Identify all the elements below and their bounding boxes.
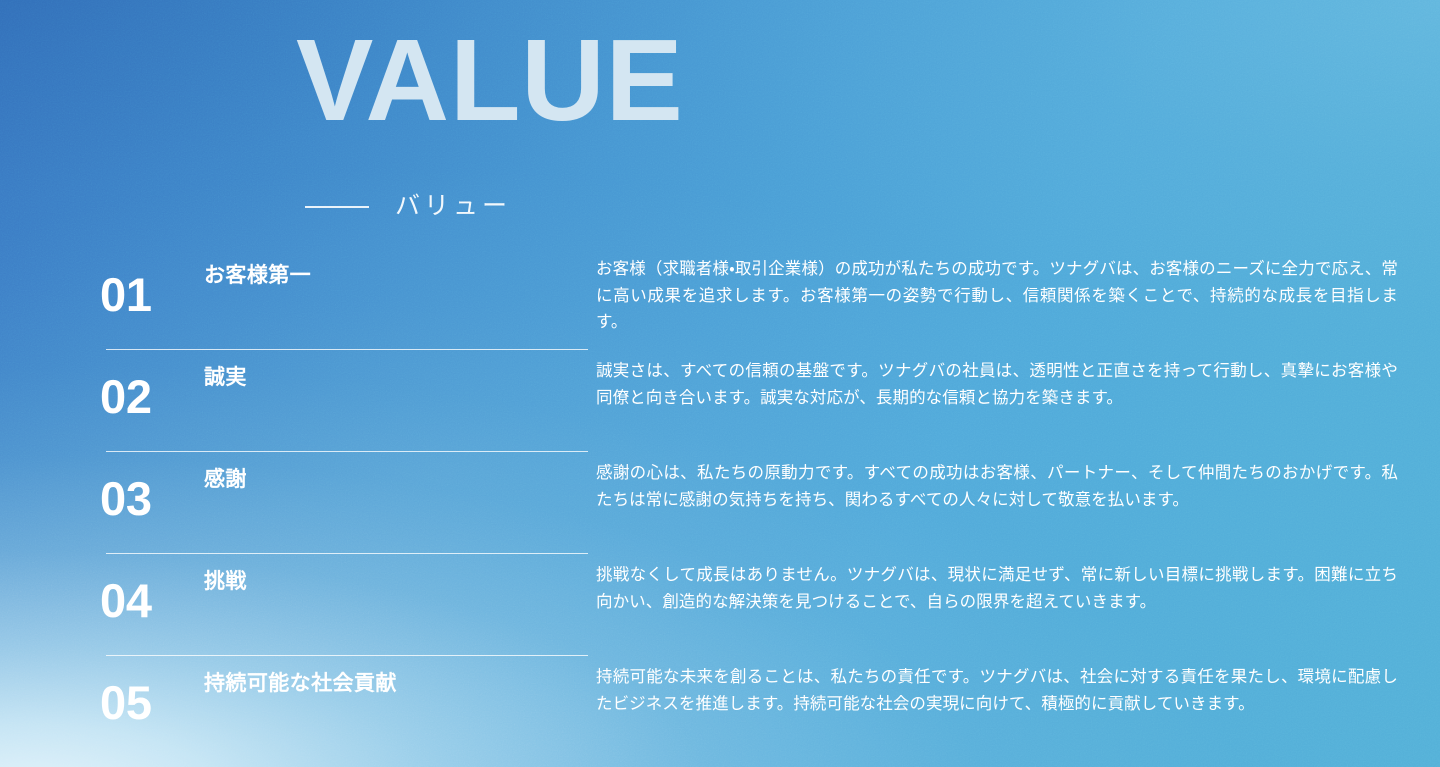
value-number: 03 xyxy=(100,452,204,522)
section-subtitle: バリュー xyxy=(395,194,511,219)
value-label-group: 05 持続可能な社会貢献 xyxy=(0,656,596,726)
value-number: 02 xyxy=(100,350,204,420)
value-label-group: 03 感謝 xyxy=(0,452,596,522)
list-item: 04 挑戦 挑戦なくして成長はありません。ツナグバは、現状に満足せず、常に新しい… xyxy=(0,554,1440,656)
value-title: 持続可能な社会貢献 xyxy=(204,656,397,694)
value-number: 05 xyxy=(100,656,204,726)
value-description: 誠実さは、すべての信頼の基盤です。ツナグバの社員は、透明性と正直さを持って行動し… xyxy=(596,350,1440,411)
list-item: 05 持続可能な社会貢献 持続可能な未来を創ることは、私たちの責任です。ツナグバ… xyxy=(0,656,1440,758)
list-item: 03 感謝 感謝の心は、私たちの原動力です。すべての成功はお客様、パートナー、そ… xyxy=(0,452,1440,554)
value-description: お客様（求職者様・取引企業様）の成功が私たちの成功です。ツナグバは、お客様のニー… xyxy=(596,248,1440,336)
value-title: 感謝 xyxy=(204,452,247,490)
value-number: 01 xyxy=(100,248,204,318)
value-list: 01 お客様第一 お客様（求職者様・取引企業様）の成功が私たちの成功です。ツナグ… xyxy=(0,248,1440,758)
value-number: 04 xyxy=(100,554,204,624)
value-title: 挑戦 xyxy=(204,554,247,592)
value-description: 挑戦なくして成長はありません。ツナグバは、現状に満足せず、常に新しい目標に挑戦し… xyxy=(596,554,1440,615)
subtitle-group: バリュー xyxy=(305,194,511,219)
horizontal-rule-icon xyxy=(305,206,369,208)
page-title: VALUE xyxy=(296,22,683,138)
value-label-group: 01 お客様第一 xyxy=(0,248,596,318)
value-label-group: 02 誠実 xyxy=(0,350,596,420)
list-item: 02 誠実 誠実さは、すべての信頼の基盤です。ツナグバの社員は、透明性と正直さを… xyxy=(0,350,1440,452)
value-title: お客様第一 xyxy=(204,248,311,286)
value-title: 誠実 xyxy=(204,350,247,388)
value-section: VALUE バリュー 01 お客様第一 お客様（求職者様・取引企業様）の成功が私… xyxy=(0,0,1440,767)
list-item: 01 お客様第一 お客様（求職者様・取引企業様）の成功が私たちの成功です。ツナグ… xyxy=(0,248,1440,350)
value-description: 持続可能な未来を創ることは、私たちの責任です。ツナグバは、社会に対する責任を果た… xyxy=(596,656,1440,717)
value-description: 感謝の心は、私たちの原動力です。すべての成功はお客様、パートナー、そして仲間たち… xyxy=(596,452,1440,513)
value-label-group: 04 挑戦 xyxy=(0,554,596,624)
